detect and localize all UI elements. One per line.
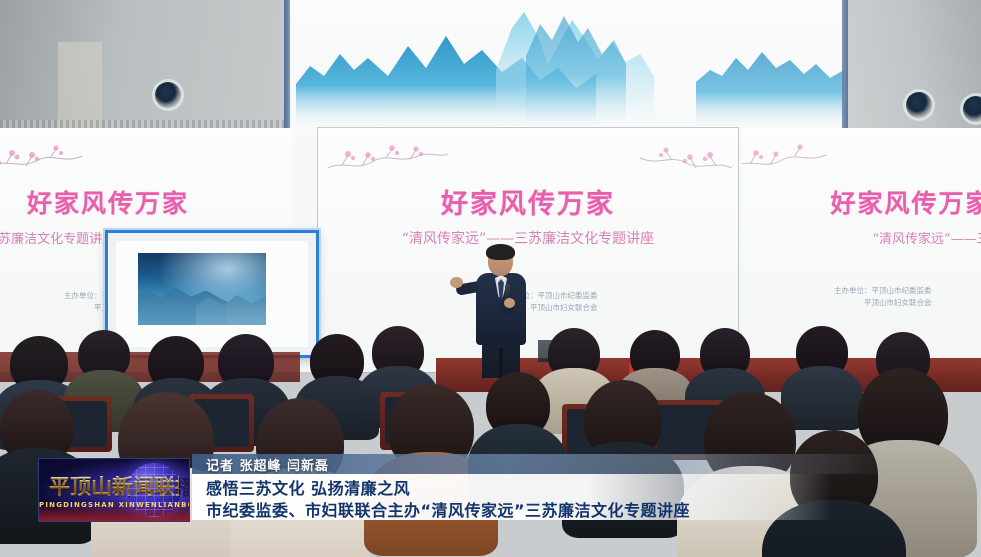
- ink-wash-mountain-graphic: [296, 6, 846, 126]
- panel-subtitle-right: “清风传家远”——三苏廉洁文化专题讲座: [870, 228, 981, 247]
- audience-member: [858, 368, 948, 460]
- broadcast-video-frame: 好家风传万家 “清风传家远”——三苏廉洁文化专题讲座 主办单位：平顶山市纪委监委…: [0, 0, 981, 557]
- headline-line-1: 感悟三苏文化 弘扬清廉之风: [206, 475, 410, 499]
- plum-blossom-decoration-icon: [742, 134, 856, 190]
- station-logo-pinyin: PINGDINGSHAN XINWENLIANBO: [39, 501, 189, 509]
- audience-member: [630, 330, 680, 380]
- organizer-line-1: 主办单位：平顶山市纪委监委: [834, 285, 932, 297]
- audience-member: [584, 380, 662, 460]
- audience-member: [486, 372, 550, 438]
- reporter-credit: 记者 张超峰 闫新磊: [206, 455, 329, 474]
- panel-organizer-right: 主办单位：平顶山市纪委监委 平顶山市妇女联合会: [834, 285, 932, 308]
- station-logo-chinese: 平顶山新闻联播: [49, 476, 179, 497]
- speaker-hair: [486, 244, 515, 260]
- audience-member: [700, 328, 750, 380]
- organizer-line-2: 平顶山市妇女联合会: [834, 297, 932, 309]
- panel-title-center: 好家风传万家: [318, 182, 738, 221]
- panel-title-right: 好家风传万家: [792, 184, 981, 220]
- monitor-screen: [116, 241, 308, 347]
- ceiling-downlight-icon: [155, 82, 181, 108]
- reporter-band: 记者 张超峰 闫新磊: [192, 454, 892, 474]
- station-logo: 平顶山新闻联播 PINGDINGSHAN XINWENLIANBO: [38, 458, 190, 522]
- panel-subtitle-center: “清风传家远”——三苏廉洁文化专题讲座: [318, 228, 738, 248]
- audience-member: [148, 336, 204, 390]
- audience-member: [372, 326, 424, 378]
- audience-member: [218, 334, 274, 390]
- headline-band: 感悟三苏文化 弘扬清廉之风 市纪委监委、市妇联联合主办“清风传家远”三苏廉洁文化…: [192, 474, 832, 520]
- speaker-presenter: [458, 246, 548, 376]
- audience-member: [796, 326, 848, 378]
- ceiling-downlight-icon: [906, 92, 932, 118]
- ceiling-vent-grille: [0, 120, 292, 128]
- speaker-left-hand: [450, 277, 463, 288]
- audience-member: [548, 328, 600, 380]
- panel-title-left: 好家风传万家: [0, 184, 254, 220]
- audience-member: [10, 336, 68, 392]
- presentation-monitor: [105, 230, 319, 358]
- headline-line-2: 市纪委监委、市妇联联合主办“清风传家远”三苏廉洁文化专题讲座: [206, 497, 690, 521]
- monitor-landscape-image: [138, 253, 266, 325]
- speaker-right-hand: [504, 298, 515, 308]
- audience-member: [310, 334, 364, 388]
- lower-third-overlay: 平顶山新闻联播 PINGDINGSHAN XINWENLIANBO 记者 张超峰…: [0, 452, 981, 528]
- poster-panel-right: 好家风传万家 “清风传家远”——三苏廉洁文化专题讲座 主办单位：平顶山市纪委监委…: [742, 128, 981, 372]
- audience-member: [78, 330, 130, 380]
